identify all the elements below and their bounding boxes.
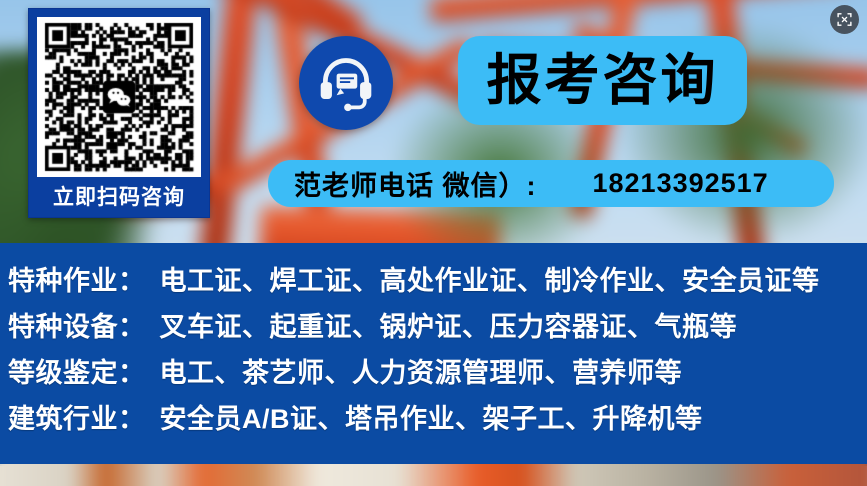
contact-label: 范老师电话 微信）: (294, 164, 537, 203)
contact-phone-badge[interactable]: 范老师电话 微信）: 18213392517 (268, 160, 834, 207)
category-row: 建筑行业： 安全员A/B证、塔吊作业、架子工、升降机等 (0, 397, 867, 443)
headset-support-icon (299, 36, 393, 130)
category-row: 特种设备： 叉车证、起重证、锅炉证、压力容器证、气瓶等 (0, 305, 867, 351)
consultation-title-text: 报考咨询 (486, 53, 718, 108)
qr-code-image[interactable] (37, 17, 201, 177)
scan-text-icon[interactable] (830, 5, 859, 34)
qr-caption: 立即扫码咨询 (29, 181, 209, 211)
category-items: 电工、茶艺师、人力资源管理师、营养师等 (160, 351, 683, 390)
bottom-photo-strip (0, 464, 867, 486)
category-items: 电工证、焊工证、高处作业证、制冷作业、安全员证等 (160, 259, 820, 298)
consultation-title-badge: 报考咨询 (458, 36, 747, 125)
contact-number[interactable]: 18213392517 (593, 168, 769, 199)
category-name: 建筑行业： (8, 397, 146, 436)
qr-code-card[interactable]: 立即扫码咨询 (28, 8, 210, 218)
category-name: 特种设备： (8, 305, 146, 344)
certificate-category-band: 特种作业： 电工证、焊工证、高处作业证、制冷作业、安全员证等 特种设备： 叉车证… (0, 243, 867, 466)
category-items: 安全员A/B证、塔吊作业、架子工、升降机等 (160, 397, 703, 436)
category-name: 特种作业： (8, 259, 146, 298)
category-name: 等级鉴定： (8, 351, 146, 390)
category-items: 叉车证、起重证、锅炉证、压力容器证、气瓶等 (160, 305, 738, 344)
category-row: 等级鉴定： 电工、茶艺师、人力资源管理师、营养师等 (0, 351, 867, 397)
promo-poster: 立即扫码咨询 报考咨询 范老师电话 微信）: 18213392517 特种作业：… (0, 0, 867, 486)
category-row: 特种作业： 电工证、焊工证、高处作业证、制冷作业、安全员证等 (0, 259, 867, 305)
